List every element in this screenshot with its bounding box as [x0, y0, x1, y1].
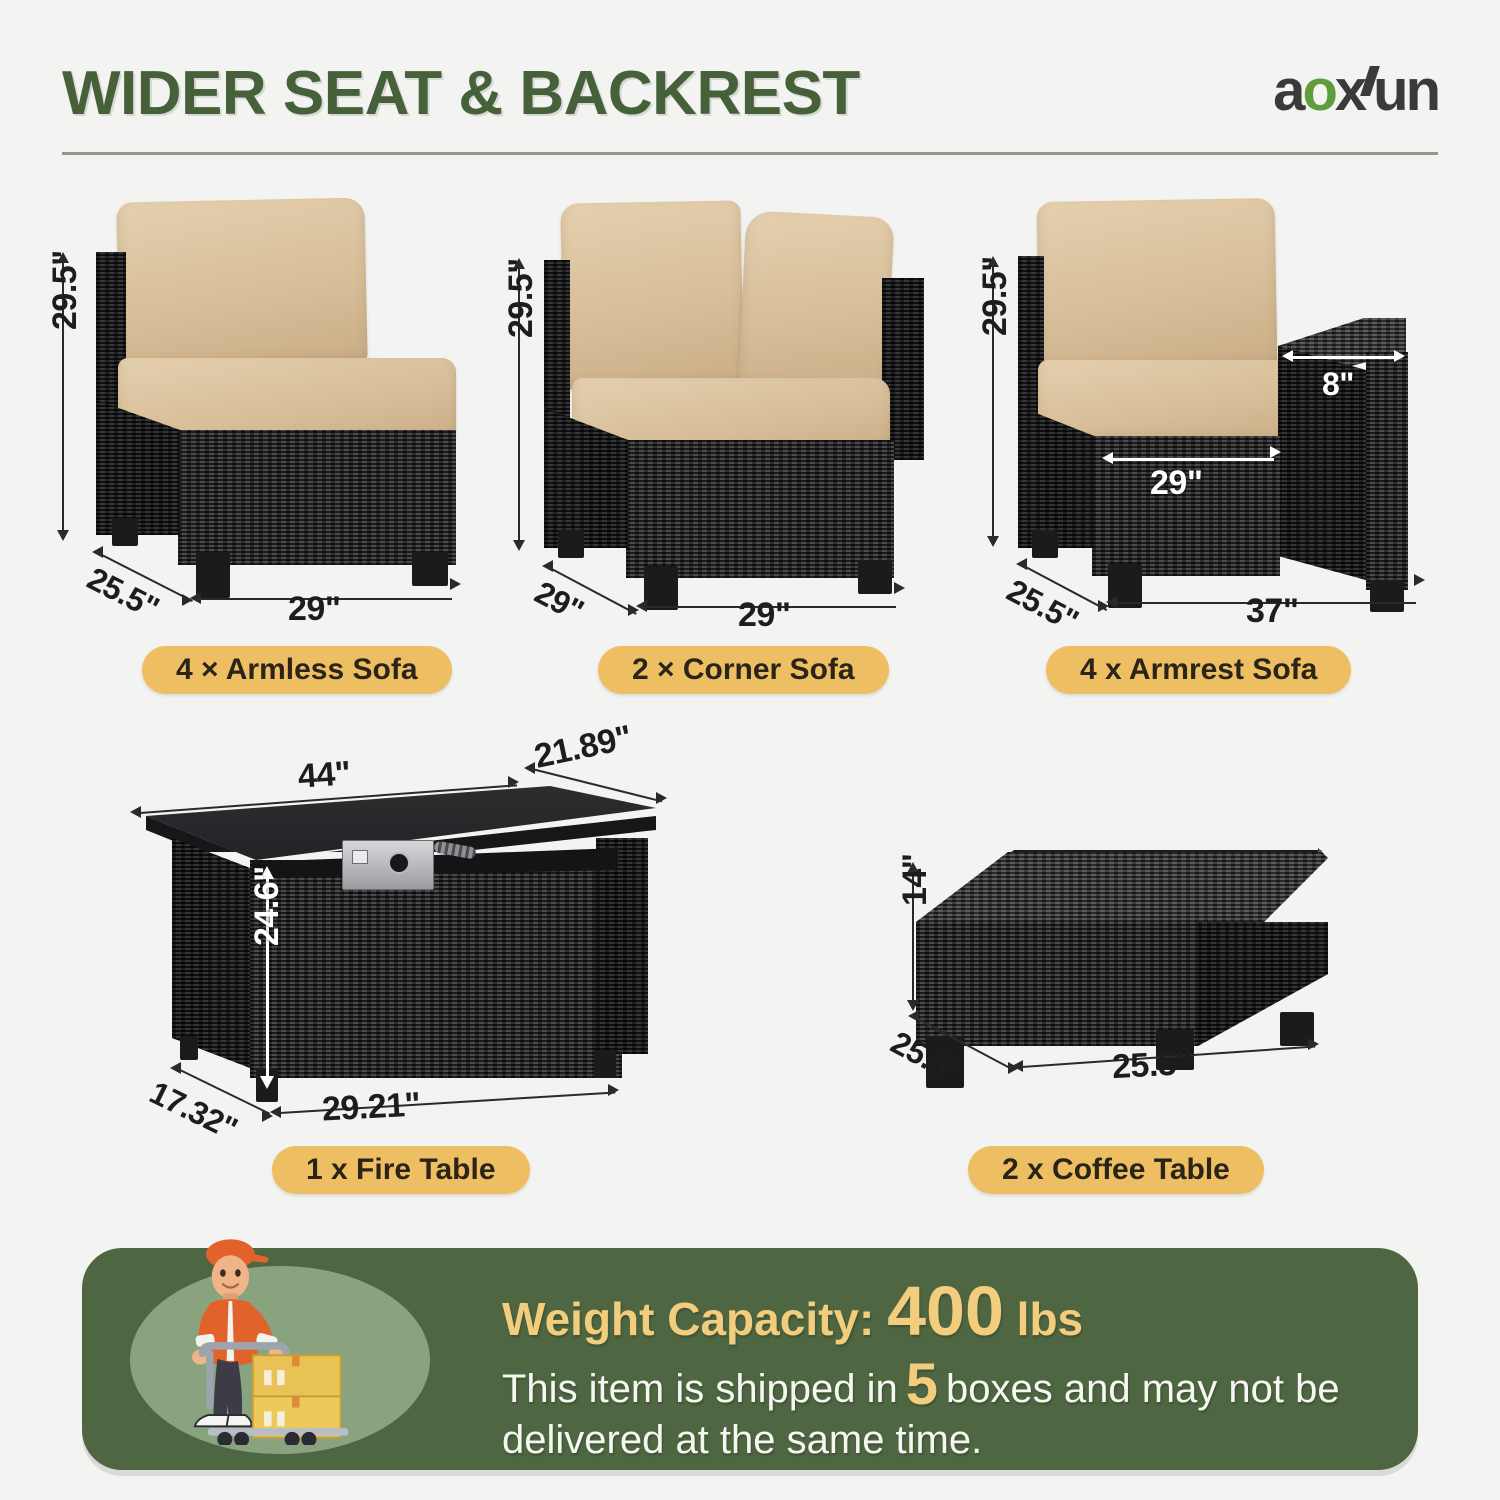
- armrest-arm-width-line: [1292, 356, 1398, 359]
- weight-capacity-unit: lbs: [1017, 1293, 1083, 1345]
- corner-height-label: 29.5": [502, 258, 541, 338]
- shipping-note: This item is shipped in5boxes and may no…: [502, 1364, 1382, 1466]
- coffee-depth-arrow-left: [908, 1010, 919, 1022]
- armless-depth-label: 25.5": [81, 560, 165, 627]
- armless-depth-arrow-left: [92, 546, 103, 558]
- shipping-text-before: This item is shipped in: [502, 1367, 898, 1411]
- armrest-seat-width-arrow-right: [1270, 446, 1281, 458]
- fire-height-label: 24.6": [248, 866, 287, 946]
- armless-base-front: [178, 430, 456, 565]
- fire-top-depth-arrow-right: [656, 792, 667, 804]
- fire-base-depth-label: 17.32": [144, 1074, 243, 1148]
- armrest-leg-back-left: [1032, 530, 1058, 558]
- fire-table-right-panel: [596, 838, 648, 1054]
- armless-width-arrow-right: [450, 578, 461, 590]
- coffee-table-front-panel: [916, 922, 1198, 1046]
- armrest-arm-width-arrow-left: [1282, 350, 1293, 362]
- armrest-arm-side: [1366, 352, 1408, 590]
- armless-leg-front-right: [412, 552, 448, 586]
- shipping-box-count: 5: [898, 1352, 946, 1417]
- fire-table-leg-front-right: [594, 1050, 616, 1078]
- armrest-arm-width-label: 8": [1322, 366, 1354, 403]
- product-fire-table: 44" 21.89" 24.6" 17.32" 29.21": [100, 720, 760, 1140]
- coffee-width-label: 25.5": [1111, 1044, 1193, 1087]
- armrest-back-cushion: [1037, 198, 1278, 372]
- fire-top-length-arrow-left: [130, 806, 141, 818]
- coffee-width-arrow-right: [1308, 1038, 1319, 1050]
- corner-back-cushion-right: [737, 210, 894, 396]
- coffee-width-arrow-left: [1012, 1060, 1023, 1072]
- corner-leg-back-left: [558, 530, 584, 558]
- delivery-worker-with-cart-icon: [154, 1230, 404, 1445]
- armrest-width-arrow-right: [1414, 574, 1425, 586]
- armrest-seat-width-arrow-left: [1102, 452, 1113, 464]
- armless-width-arrow-left: [190, 592, 201, 604]
- armrest-arm-width-arrow-right: [1394, 350, 1405, 362]
- badge-coffee-table[interactable]: 2 x Coffee Table: [968, 1146, 1264, 1194]
- shipping-banner: Weight Capacity: 400 lbs This item is sh…: [82, 1248, 1418, 1470]
- armrest-base-front: [1092, 436, 1280, 576]
- armless-width-label: 29": [288, 590, 340, 629]
- fire-top-length-arrow-right: [508, 776, 519, 788]
- infographic-page: WIDER SEAT & BACKREST aoxun 29.5" 25.5" …: [0, 0, 1500, 1500]
- fire-base-length-label: 29.21": [321, 1085, 421, 1129]
- corner-width-label: 29": [738, 596, 790, 635]
- corner-base-front: [626, 440, 894, 578]
- fire-top-depth-arrow-left: [524, 762, 535, 774]
- corner-width-arrow-right: [894, 582, 905, 594]
- fire-table-front-panel: [250, 860, 622, 1078]
- armless-height-label: 29.5": [46, 250, 85, 330]
- fire-top-depth-label: 21.89": [531, 718, 635, 777]
- armrest-leg-arm-right: [1370, 580, 1404, 612]
- corner-leg-front-right: [858, 560, 892, 594]
- corner-depth-arrow-left: [542, 560, 553, 572]
- armless-back-cushion: [116, 197, 367, 368]
- armrest-height-label: 29.5": [976, 256, 1015, 336]
- fire-table-side-panel: [172, 838, 250, 1068]
- weight-capacity-label: Weight Capacity:: [502, 1293, 874, 1345]
- fire-table-ignition-button[interactable]: [352, 850, 368, 864]
- armrest-width-label: 37": [1246, 592, 1298, 631]
- fire-base-length-arrow-left: [270, 1106, 281, 1118]
- armrest-width-arrow-left: [1106, 596, 1117, 608]
- armrest-seat-width-line: [1112, 458, 1274, 461]
- fire-table-leg-back-left: [180, 1036, 198, 1060]
- armrest-depth-arrow-left: [1016, 558, 1027, 570]
- product-armrest-sofa: 29.5" 8" 29" 25.5" 37": [940, 0, 1460, 700]
- badge-corner-sofa[interactable]: 2 × Corner Sofa: [598, 646, 889, 694]
- corner-leg-front-left: [644, 566, 678, 610]
- armrest-depth-label: 25.5": [1001, 572, 1085, 640]
- corner-height-arrow-bottom: [513, 540, 525, 551]
- product-coffee-table: 14" 25.5" 25.5": [860, 830, 1360, 1150]
- fire-top-length-label: 44": [297, 754, 352, 797]
- fire-table-control-knob[interactable]: [388, 852, 410, 874]
- badge-armrest-sofa[interactable]: 4 x Armrest Sofa: [1046, 646, 1351, 694]
- weight-capacity-value: 400: [887, 1272, 1004, 1350]
- fire-height-arrow-bottom: [260, 1076, 274, 1089]
- badge-fire-table[interactable]: 1 x Fire Table: [272, 1146, 530, 1194]
- armless-height-arrow-bottom: [57, 530, 69, 541]
- fire-base-length-arrow-right: [608, 1084, 619, 1096]
- armrest-seat-width-label: 29": [1150, 464, 1202, 503]
- fire-base-depth-arrow-left: [170, 1062, 181, 1074]
- armrest-height-arrow-bottom: [987, 536, 999, 547]
- corner-width-arrow-left: [636, 600, 647, 612]
- armless-leg-front-left: [196, 552, 230, 598]
- badge-armless-sofa[interactable]: 4 × Armless Sofa: [142, 646, 452, 694]
- product-armless-sofa: 29.5" 25.5" 29": [0, 0, 500, 700]
- armless-leg-back-left: [112, 518, 138, 546]
- coffee-height-label: 14": [896, 854, 935, 906]
- weight-capacity-line: Weight Capacity: 400 lbs: [502, 1276, 1083, 1346]
- product-corner-sofa: 29.5" 29" 29": [480, 0, 960, 700]
- corner-back-cushion-left: [560, 200, 743, 389]
